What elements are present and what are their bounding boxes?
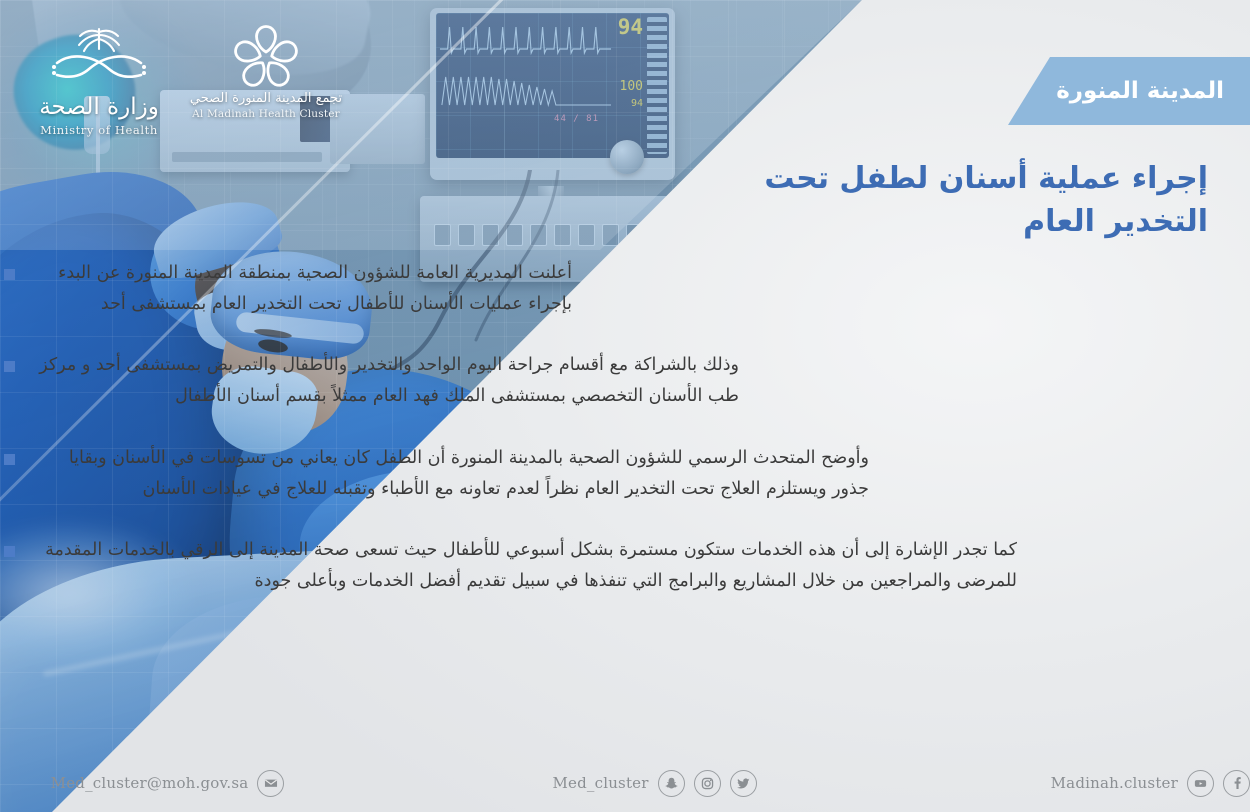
list-item: وأوضح المتحدث الرسمي للشؤون الصحية بالمد… [4, 443, 1236, 505]
facebook-icon[interactable] [1223, 770, 1250, 797]
bullet-marker-icon [4, 546, 15, 557]
social-handle: Med_cluster [552, 774, 648, 792]
social-group-madinah-cluster: Madinah.cluster [1045, 770, 1250, 797]
bullet-marker-icon [4, 269, 15, 280]
email-address: Med_cluster@moh.gov.sa [51, 774, 249, 792]
youtube-icon[interactable] [1187, 770, 1214, 797]
bullet-text: كما تجدر الإشارة إلى أن هذه الخدمات ستكو… [27, 535, 1017, 597]
list-item: كما تجدر الإشارة إلى أن هذه الخدمات ستكو… [4, 535, 1236, 597]
bullet-text: وأوضح المتحدث الرسمي للشؤون الصحية بالمد… [27, 443, 869, 505]
news-card: 94 100 94 81 / 44 [0, 0, 1250, 812]
twitter-icon[interactable] [730, 770, 757, 797]
bullet-list: أعلنت المديرية العامة للشؤون الصحية بمنط… [4, 258, 1236, 627]
bullet-text: وذلك بالشراكة مع أقسام جراحة اليوم الواح… [27, 350, 739, 412]
social-footer: Madinah.cluster Med_cluster Med_cluster@… [0, 754, 1250, 812]
list-item: وذلك بالشراكة مع أقسام جراحة اليوم الواح… [4, 350, 1236, 412]
bullet-text: أعلنت المديرية العامة للشؤون الصحية بمنط… [27, 258, 572, 320]
social-handle: Madinah.cluster [1051, 774, 1178, 792]
snapchat-icon[interactable] [658, 770, 685, 797]
bullet-marker-icon [4, 361, 15, 372]
social-group-med-cluster: Med_cluster [546, 770, 756, 797]
instagram-icon[interactable] [694, 770, 721, 797]
content-area: إجراء عملية أسنان لطفل تحت التخدير العام… [0, 0, 1250, 812]
bullet-marker-icon [4, 454, 15, 465]
email-icon[interactable] [257, 770, 284, 797]
list-item: أعلنت المديرية العامة للشؤون الصحية بمنط… [4, 258, 1236, 320]
page-title: إجراء عملية أسنان لطفل تحت التخدير العام [678, 158, 1208, 243]
social-group-email: Med_cluster@moh.gov.sa [45, 770, 285, 797]
